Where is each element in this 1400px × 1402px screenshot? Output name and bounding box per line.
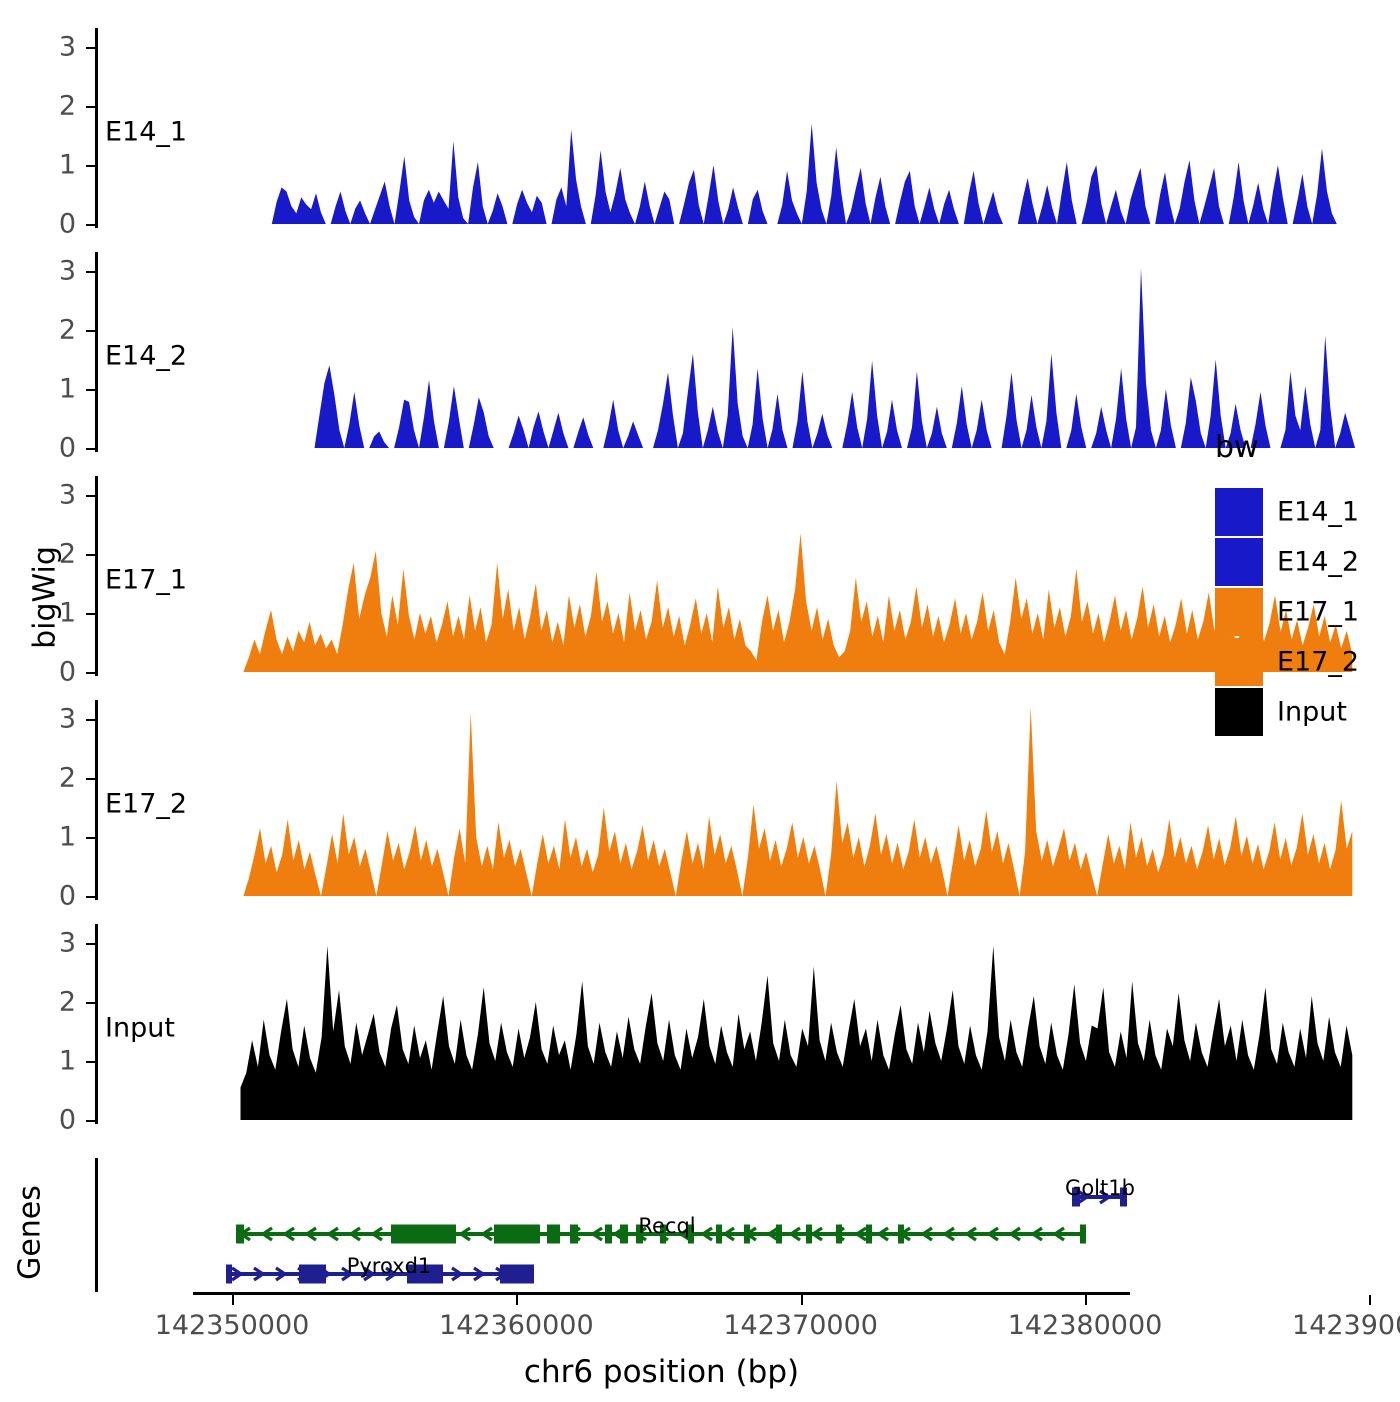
exon	[494, 1225, 540, 1244]
legend-swatch	[1215, 638, 1263, 686]
legend-label: E17_1	[1277, 597, 1359, 628]
exon	[716, 1225, 722, 1244]
track-area-e14_1	[0, 28, 1400, 226]
gene-label-pyroxd1: Pyroxd1	[347, 1254, 432, 1278]
legend-item-input[interactable]: Input	[1215, 688, 1400, 738]
legend-label: E17_2	[1277, 647, 1359, 678]
bigwig-track-e14_1: 0123E14_1	[0, 28, 1400, 230]
x-tick-label: 142360000	[439, 1310, 594, 1341]
x-axis-title: chr6 position (bp)	[524, 1354, 799, 1390]
exon	[236, 1225, 244, 1244]
bigwig-track-e17_2: 0123E17_2	[0, 700, 1400, 902]
legend-item-e14_1[interactable]: E14_1	[1215, 488, 1400, 538]
x-tick-label: 142390000	[1292, 1310, 1400, 1341]
x-tick	[1369, 1295, 1371, 1305]
gene-label-golt1b: Golt1b	[1065, 1176, 1135, 1200]
x-tick	[232, 1295, 234, 1305]
exon	[547, 1225, 560, 1244]
exon	[866, 1225, 872, 1244]
legend-swatch	[1215, 538, 1263, 586]
legend-label: E14_2	[1277, 547, 1359, 578]
legend-item-e17_2[interactable]: E17_2	[1215, 638, 1400, 688]
legend: bw E14_1E14_2E17_1E17_2Input	[1215, 430, 1400, 730]
legend-label: Input	[1277, 697, 1347, 728]
bigwig-track-e14_2: 0123E14_2	[0, 252, 1400, 454]
exon	[570, 1225, 578, 1244]
x-tick-label: 142380000	[1008, 1310, 1163, 1341]
genes-panel: 1423500001423600001423700001423800001423…	[0, 1158, 1400, 1402]
legend-item-e17_1[interactable]: E17_1	[1215, 588, 1400, 638]
exon	[226, 1265, 232, 1284]
exon	[744, 1225, 750, 1244]
track-area-e14_2	[0, 252, 1400, 450]
legend-label: E14_1	[1277, 497, 1359, 528]
track-area-input	[0, 924, 1400, 1122]
area-fill	[272, 124, 1347, 224]
x-tick-label: 142350000	[155, 1310, 310, 1341]
track-area-e17_2	[0, 700, 1400, 898]
track-area-e17_1	[0, 476, 1400, 674]
area-fill	[315, 268, 1356, 448]
area-fill	[243, 707, 1352, 896]
bigwig-track-e17_1: 0123E17_1	[0, 476, 1400, 678]
x-axis-line	[193, 1292, 1130, 1295]
legend-swatch	[1215, 488, 1263, 536]
legend-title: bw	[1215, 430, 1259, 465]
gene-label-recql: Recql	[638, 1214, 695, 1238]
legend-swatch	[1215, 688, 1263, 736]
exon	[605, 1225, 612, 1244]
exon	[898, 1225, 904, 1244]
exon	[776, 1225, 782, 1244]
exon	[299, 1265, 326, 1284]
exon	[620, 1225, 628, 1244]
exon	[500, 1265, 534, 1284]
exon	[391, 1225, 456, 1244]
area-fill	[241, 946, 1353, 1120]
x-tick	[516, 1295, 518, 1305]
bigwig-track-input: 0123Input	[0, 924, 1400, 1126]
exon	[1080, 1225, 1086, 1244]
area-fill	[243, 533, 1352, 672]
x-tick	[1085, 1295, 1087, 1305]
gene-models	[0, 1158, 1400, 1292]
exon	[836, 1225, 842, 1244]
legend-item-e14_2[interactable]: E14_2	[1215, 538, 1400, 588]
x-tick	[801, 1295, 803, 1305]
legend-swatch	[1215, 588, 1263, 636]
x-tick-label: 142370000	[723, 1310, 878, 1341]
exon	[806, 1225, 812, 1244]
